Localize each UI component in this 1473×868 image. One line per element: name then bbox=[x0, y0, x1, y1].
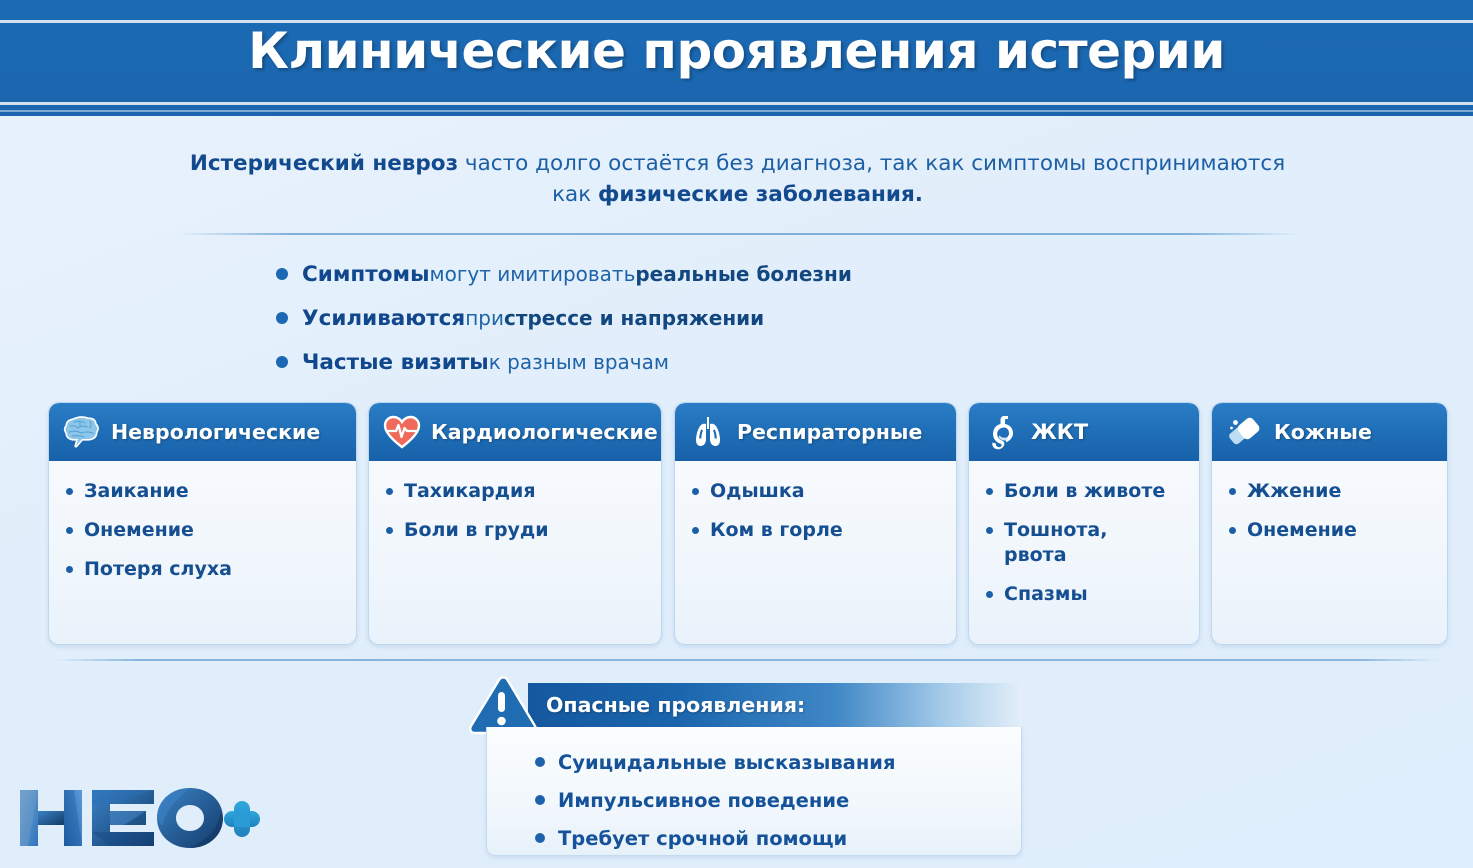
card-neurological: Неврологические Заикание Онемение Потеря… bbox=[48, 402, 357, 645]
header-bottom-rule-2 bbox=[0, 110, 1473, 112]
bullet-dot-icon bbox=[535, 833, 545, 843]
intro-line-2: как физические заболевания. bbox=[170, 179, 1305, 210]
card-title: Респираторные bbox=[737, 420, 922, 444]
list-item: Требует срочной помощи bbox=[535, 819, 1021, 857]
skin-patch-icon bbox=[1225, 412, 1265, 452]
list-item: Онемение bbox=[1226, 518, 1439, 543]
list-item: Потеря слуха bbox=[63, 557, 348, 582]
page-title: Клинические проявления истерии bbox=[0, 22, 1473, 80]
key-point-mid: при bbox=[465, 306, 504, 330]
key-points-list: Симптомы могут имитировать реальные боле… bbox=[276, 252, 852, 384]
stomach-icon bbox=[982, 412, 1022, 452]
card-title: Неврологические bbox=[111, 420, 320, 444]
card-body: Боли в животе Тошнота, рвота Спазмы bbox=[969, 461, 1199, 607]
symptom-label: Жжение bbox=[1247, 479, 1341, 504]
bullet-dot-icon bbox=[986, 527, 993, 534]
logo-letter-o bbox=[157, 788, 223, 848]
key-point-lead: Частые визиты bbox=[302, 350, 489, 375]
neo-plus-logo bbox=[14, 782, 262, 854]
list-item: Усиливаются при стрессе и напряжении bbox=[276, 296, 852, 340]
list-item: Суицидальные высказывания bbox=[535, 743, 1021, 781]
card-body: Заикание Онемение Потеря слуха bbox=[49, 461, 356, 582]
danger-signs-header: Опасные проявления: bbox=[528, 683, 1022, 727]
symptom-label: Онемение bbox=[84, 518, 194, 543]
list-item: Частые визиты к разным врачам bbox=[276, 340, 852, 384]
card-gastrointestinal: ЖКТ Боли в животе Тошнота, рвота Спазмы bbox=[968, 402, 1200, 645]
intro-line-1-rest: часто долго остаётся без диагноза, так к… bbox=[458, 151, 1285, 176]
card-title: ЖКТ bbox=[1031, 420, 1088, 444]
list-item: Боли в животе bbox=[983, 479, 1191, 504]
symptom-label: Боли в груди bbox=[404, 518, 549, 543]
bullet-dot-icon bbox=[386, 527, 393, 534]
intro-divider bbox=[178, 233, 1298, 235]
header-bottom-rule-1 bbox=[0, 102, 1473, 105]
bullet-dot-icon bbox=[1229, 488, 1236, 495]
bullet-dot-icon bbox=[276, 356, 288, 368]
card-body: Тахикардия Боли в груди bbox=[369, 461, 661, 543]
bullet-dot-icon bbox=[692, 527, 699, 534]
card-dermatological: Кожные Жжение Онемение bbox=[1211, 402, 1448, 645]
symptom-label: Ком в горле bbox=[710, 518, 843, 543]
card-body: Жжение Онемение bbox=[1212, 461, 1447, 543]
key-point-emphasis: стрессе и напряжении bbox=[504, 306, 764, 330]
bullet-dot-icon bbox=[276, 268, 288, 280]
list-item: Жжение bbox=[1226, 479, 1439, 504]
key-point-tail: к разным врачам bbox=[489, 350, 669, 374]
list-item: Ком в горле bbox=[689, 518, 948, 543]
card-header: Неврологические bbox=[49, 403, 356, 461]
list-item: Тахикардия bbox=[383, 479, 653, 504]
symptom-label: Одышка bbox=[710, 479, 805, 504]
danger-signs-list: Суицидальные высказывания Импульсивное п… bbox=[486, 727, 1022, 856]
logo-plus-icon bbox=[224, 801, 260, 837]
list-item: Онемение bbox=[63, 518, 348, 543]
danger-sign-label: Суицидальные высказывания bbox=[558, 751, 896, 774]
intro-emphasis: физические заболевания. bbox=[598, 182, 923, 207]
intro-line-1: Истерический невроз часто долго остаётся… bbox=[170, 148, 1305, 179]
lungs-icon bbox=[688, 412, 728, 452]
key-point-emphasis: реальные болезни bbox=[635, 262, 851, 286]
card-header: Респираторные bbox=[675, 403, 956, 461]
symptom-label: Потеря слуха bbox=[84, 557, 232, 582]
intro-term: Истерический невроз bbox=[190, 151, 458, 176]
danger-sign-label: Требует срочной помощи bbox=[558, 827, 847, 850]
intro-line-2-pre: как bbox=[552, 182, 598, 207]
bullet-dot-icon bbox=[276, 312, 288, 324]
bullet-dot-icon bbox=[535, 757, 545, 767]
key-point-lead: Симптомы bbox=[302, 262, 430, 287]
intro-paragraph: Истерический невроз часто долго остаётся… bbox=[170, 148, 1305, 210]
list-item: Тошнота, рвота bbox=[983, 518, 1191, 568]
logo-letter-n bbox=[20, 790, 82, 846]
symptom-label: Спазмы bbox=[1004, 582, 1088, 607]
symptom-label: Тахикардия bbox=[404, 479, 536, 504]
danger-signs-block: Опасные проявления: Суицидальные высказы… bbox=[466, 683, 1022, 856]
symptom-category-cards: Неврологические Заикание Онемение Потеря… bbox=[0, 402, 1473, 645]
card-header: Кожные bbox=[1212, 403, 1447, 461]
card-title: Кожные bbox=[1274, 420, 1372, 444]
list-item: Одышка bbox=[689, 479, 948, 504]
bullet-dot-icon bbox=[66, 566, 73, 573]
logo-letter-e bbox=[92, 790, 154, 846]
bullet-dot-icon bbox=[535, 795, 545, 805]
danger-sign-label: Импульсивное поведение bbox=[558, 789, 849, 812]
card-cardiological: Кардиологические Тахикардия Боли в груди bbox=[368, 402, 662, 645]
bullet-dot-icon bbox=[386, 488, 393, 495]
section-divider bbox=[55, 659, 1440, 661]
symptom-label: Заикание bbox=[84, 479, 189, 504]
symptom-label: Тошнота, рвота bbox=[1004, 518, 1139, 568]
list-item: Импульсивное поведение bbox=[535, 781, 1021, 819]
brain-icon bbox=[62, 412, 102, 452]
bullet-dot-icon bbox=[66, 527, 73, 534]
heart-ecg-icon bbox=[382, 412, 422, 452]
bullet-dot-icon bbox=[66, 488, 73, 495]
card-respiratory: Респираторные Одышка Ком в горле bbox=[674, 402, 957, 645]
list-item: Симптомы могут имитировать реальные боле… bbox=[276, 252, 852, 296]
card-header: ЖКТ bbox=[969, 403, 1199, 461]
danger-signs-title: Опасные проявления: bbox=[546, 693, 805, 717]
page-header: Клинические проявления истерии bbox=[0, 0, 1473, 116]
symptom-label: Онемение bbox=[1247, 518, 1357, 543]
bullet-dot-icon bbox=[986, 591, 993, 598]
card-header: Кардиологические bbox=[369, 403, 661, 461]
list-item: Заикание bbox=[63, 479, 348, 504]
bullet-dot-icon bbox=[1229, 527, 1236, 534]
key-point-lead: Усиливаются bbox=[302, 306, 465, 331]
card-title: Кардиологические bbox=[431, 420, 658, 444]
key-point-mid: могут имитировать bbox=[430, 262, 636, 286]
card-body: Одышка Ком в горле bbox=[675, 461, 956, 543]
list-item: Боли в груди bbox=[383, 518, 653, 543]
bullet-dot-icon bbox=[692, 488, 699, 495]
symptom-label: Боли в животе bbox=[1004, 479, 1165, 504]
list-item: Спазмы bbox=[983, 582, 1191, 607]
bullet-dot-icon bbox=[986, 488, 993, 495]
